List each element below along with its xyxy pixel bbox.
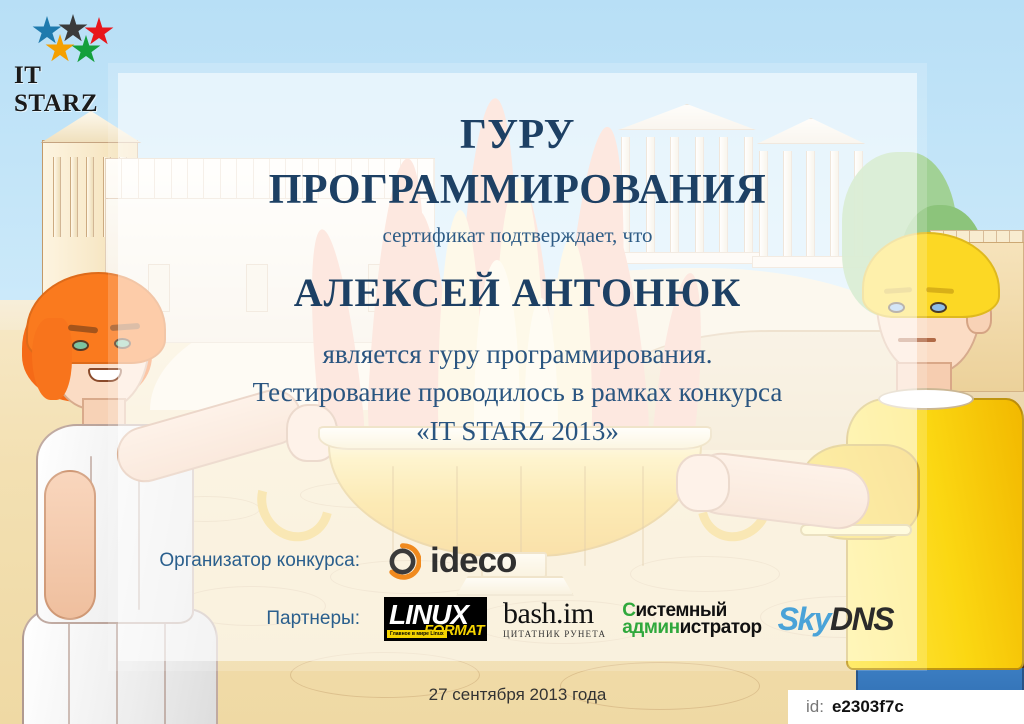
partners-label: Партнеры: [158, 608, 384, 630]
man-eye [930, 302, 947, 313]
skydns-part2: DNS [830, 601, 893, 637]
sysadmin-line2-green: админ [622, 617, 679, 638]
certificate-title: ГУРУ ПРОГРАММИРОВАНИЯ [118, 108, 917, 219]
body-line-1: является гуру программирования. [118, 335, 917, 373]
star-icon [84, 17, 114, 47]
bash-im-tagline: ЦИТАТНИК РУНЕТА [503, 629, 606, 640]
woman-hair-side [32, 318, 72, 400]
certificate-id-badge: id: e2303f7c [788, 690, 1024, 724]
woman-eye [72, 340, 89, 351]
woman-mouth [88, 368, 122, 382]
certificate-subtitle: сертификат подтверждает, что [118, 223, 917, 248]
id-value: e2303f7c [832, 697, 904, 717]
ideco-logo: ideco [384, 541, 516, 581]
skydns-part1: Sky [778, 601, 830, 637]
logo-stars [14, 14, 124, 60]
star-icon [58, 14, 88, 44]
body-line-2: Тестирование проводилось в рамках конкур… [118, 373, 917, 411]
partner-logos: LINUX FORMAT Главное в мире Linux bash.i… [384, 597, 893, 641]
skydns-logo: SkyDNS [778, 601, 894, 638]
recipient-name: АЛЕКСЕЙ АНТОНЮК [118, 269, 917, 316]
fabric-fold [68, 618, 70, 724]
linux-format-tagline: Главное в мире Linux [387, 630, 447, 638]
title-line-2: ПРОГРАММИРОВАНИЯ [118, 163, 917, 218]
certificate-body: является гуру программирования. Тестиров… [118, 335, 917, 450]
body-line-3: «IT STARZ 2013» [118, 412, 917, 450]
linux-format-logo: LINUX FORMAT Главное в мире Linux [384, 597, 487, 641]
star-icon [32, 16, 62, 46]
woman-arm-back [44, 470, 96, 620]
it-starz-logo: IT STARZ [14, 14, 124, 96]
sysadmin-line2: администратор [622, 618, 761, 637]
bash-im-logo: bash.im ЦИТАТНИК РУНЕТА [503, 599, 606, 640]
id-label: id: [806, 697, 824, 717]
title-line-1: ГУРУ [118, 108, 917, 163]
logo-wordmark: IT STARZ [14, 62, 124, 118]
organizer-label: Организатор конкурса: [158, 550, 384, 572]
certificate-canvas: IT STARZ ГУРУ ПРОГРАММИРОВАНИЯ сертифика… [0, 0, 1024, 724]
partners-row: Партнеры: LINUX FORMAT Главное в мире Li… [158, 597, 918, 641]
ideco-wordmark: ideco [430, 541, 516, 581]
certificate-content: ГУРУ ПРОГРАММИРОВАНИЯ сертификат подтвер… [118, 73, 917, 661]
ideco-mark-icon [384, 543, 421, 580]
organizer-row: Организатор конкурса: ideco [158, 541, 877, 581]
bash-im-wordmark: bash.im [503, 599, 606, 629]
sysadmin-line2-black: истратор [680, 617, 762, 638]
sistemny-administrator-logo: Системный администратор [622, 601, 761, 637]
